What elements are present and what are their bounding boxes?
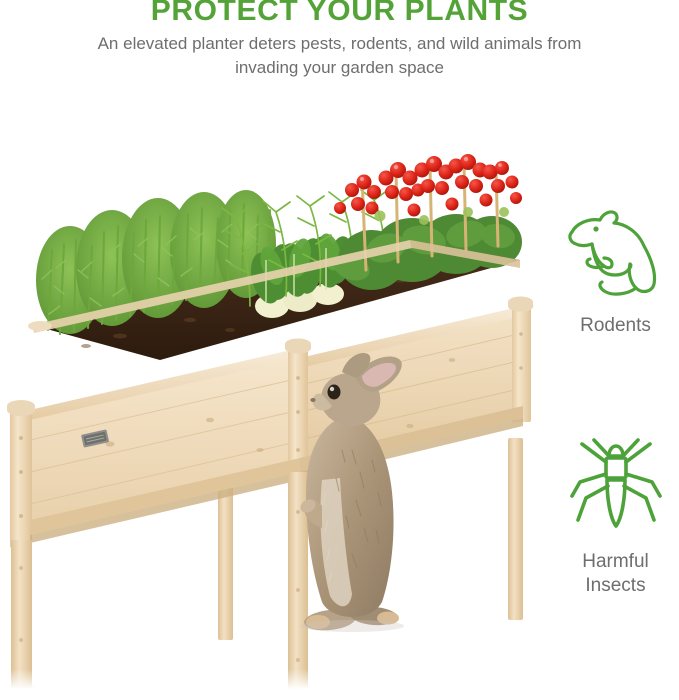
header: PROTECT YOUR PLANTS An elevated planter … [0,0,679,80]
insect-icon [566,436,666,540]
insect-icon-box [552,434,679,542]
feature-label-insects: Harmful Insects [552,550,679,598]
product-infographic: PROTECT YOUR PLANTS An elevated planter … [0,0,679,695]
product-scene [0,120,560,695]
feature-label-insects-line1: Harmful [552,550,679,574]
leg-shadow [282,688,314,695]
rodent-icon [564,202,668,302]
plants-group [36,154,522,334]
feature-label-insects-line2: Insects [552,574,679,598]
feature-rodents: Rodents [552,198,679,338]
feature-label-rodents: Rodents [552,314,679,338]
planter-illustration [0,120,560,695]
plant-tomato [331,154,522,290]
pest-feature-list: Rodents [552,198,679,598]
page-title: PROTECT YOUR PLANTS [0,0,679,26]
leg-shadow [5,684,37,692]
page-subtitle: An elevated planter deters pests, rodent… [70,32,610,80]
tomato-fruit-cluster [334,154,522,217]
rodent-icon-box [552,198,679,306]
feature-insects: Harmful Insects [552,434,679,598]
rodent-eye [593,226,598,231]
rabbit-shadow [300,620,404,632]
